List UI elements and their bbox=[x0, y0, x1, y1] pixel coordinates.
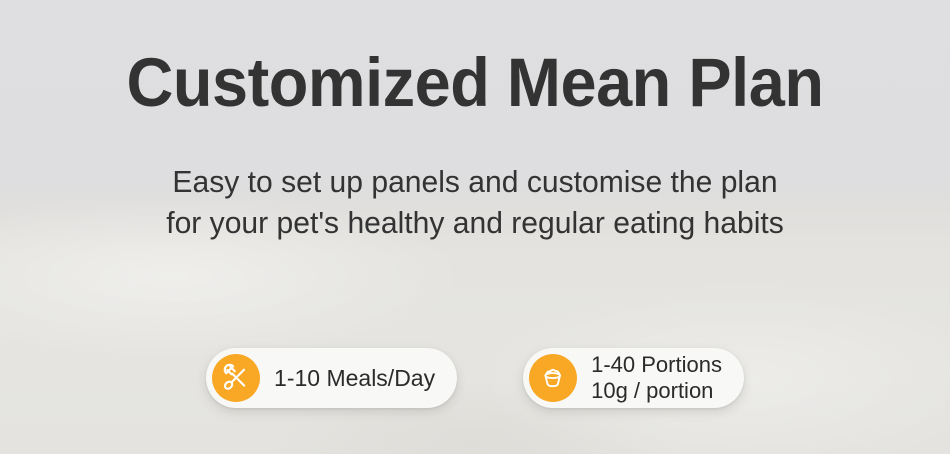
page-title: Customized Mean Plan bbox=[29, 0, 922, 117]
hero-subtitle-line-1: Easy to set up panels and customise the … bbox=[172, 164, 777, 199]
pet-food-bowl-icon bbox=[529, 354, 577, 402]
hero-text-block: Customized Mean Plan Easy to set up pane… bbox=[0, 0, 950, 243]
badge-meals-label: 1-10 Meals/Day bbox=[274, 365, 435, 391]
cutlery-icon bbox=[212, 354, 260, 402]
promo-banner: Customized Mean Plan Easy to set up pane… bbox=[0, 0, 950, 454]
badge-portions-label: 1-40 Portions 10g / portion bbox=[591, 352, 722, 404]
hero-subtitle: Easy to set up panels and customise the … bbox=[14, 117, 936, 243]
badge-meals-line-1: 1-10 Meals/Day bbox=[274, 365, 435, 391]
badge-meals-per-day[interactable]: 1-10 Meals/Day bbox=[206, 348, 457, 408]
badge-portions-line-2: 10g / portion bbox=[591, 378, 713, 403]
feature-badge-row: 1-10 Meals/Day 1-40 Portions 10g / porti… bbox=[0, 348, 950, 408]
badge-portions-line-1: 1-40 Portions bbox=[591, 352, 722, 377]
badge-portions[interactable]: 1-40 Portions 10g / portion bbox=[523, 348, 744, 408]
hero-subtitle-line-2: for your pet's healthy and regular eatin… bbox=[166, 205, 784, 240]
